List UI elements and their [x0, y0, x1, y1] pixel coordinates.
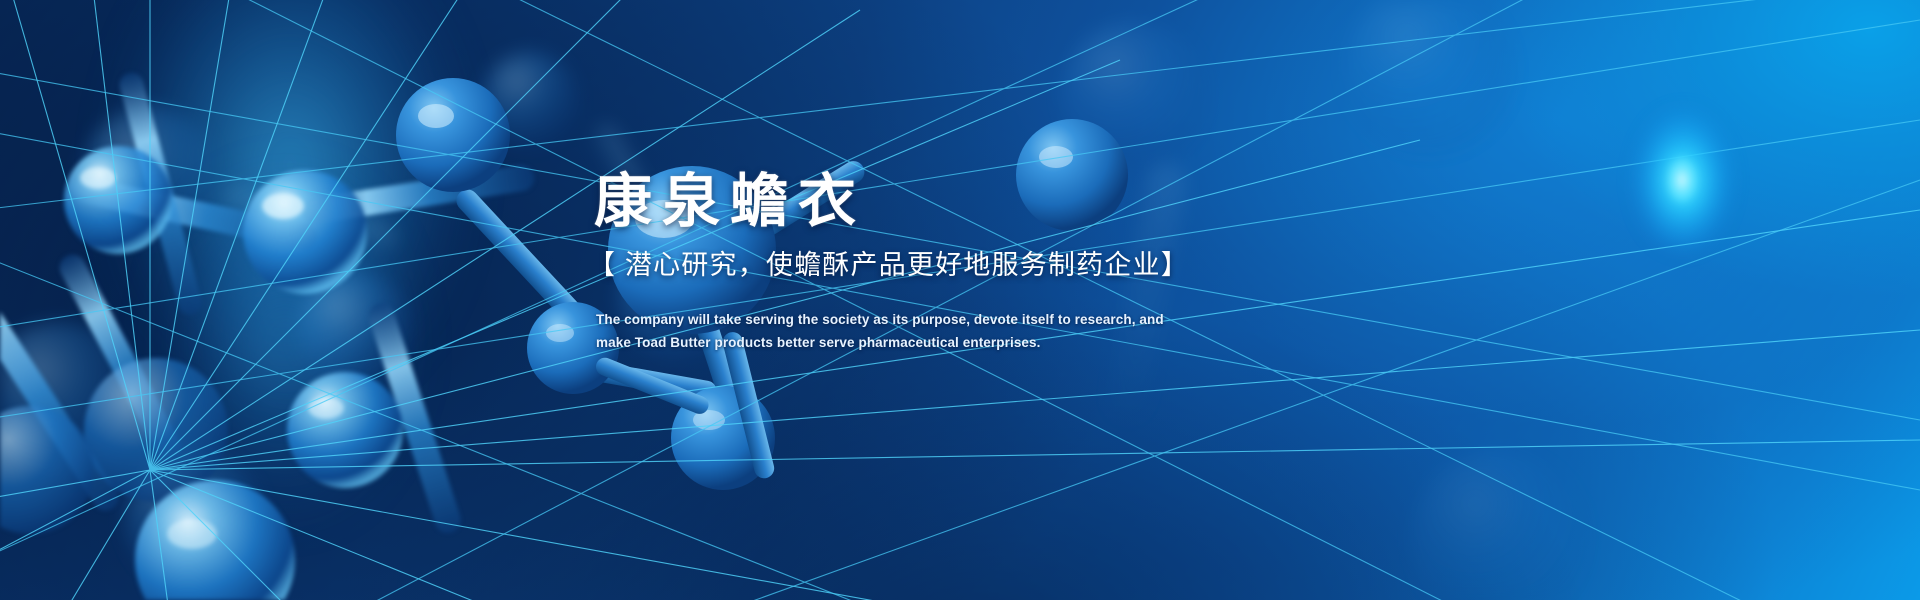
cyan-flare-core	[1668, 158, 1696, 202]
hero-text-block: 康泉蟾衣 【 潜心研究，使蟾酥产品更好地服务制药企业】 The company …	[594, 168, 1294, 354]
hero-banner: 康泉蟾衣 【 潜心研究，使蟾酥产品更好地服务制药企业】 The company …	[0, 0, 1920, 600]
hero-description-line-1: The company will take serving the societ…	[596, 308, 1294, 331]
page-title: 康泉蟾衣	[594, 168, 1294, 236]
hero-description: The company will take serving the societ…	[596, 308, 1294, 354]
hero-subtitle: 【 潜心研究，使蟾酥产品更好地服务制药企业】	[588, 248, 1294, 283]
hero-description-line-2: make Toad Butter products better serve p…	[596, 331, 1294, 354]
